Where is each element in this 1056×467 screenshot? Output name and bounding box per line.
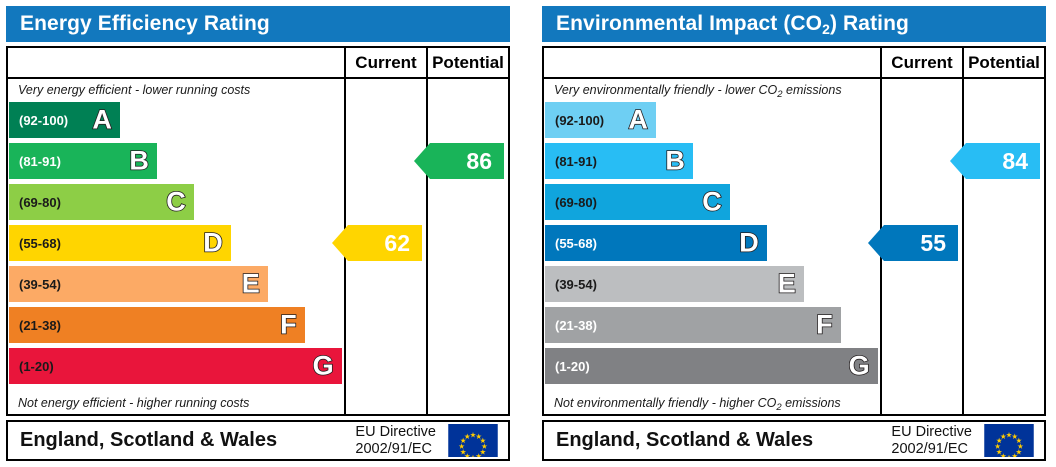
- current-column: 62: [344, 79, 426, 414]
- band-row-g: (1-20) G: [8, 348, 344, 384]
- band-bar-b: (81-91) B: [9, 143, 157, 179]
- band-bar-g: (1-20) G: [545, 348, 878, 384]
- band-range-d: (55-68): [545, 236, 597, 251]
- band-range-c: (69-80): [9, 195, 61, 210]
- potential-column: 84: [962, 79, 1044, 414]
- header-current: Current: [344, 48, 426, 77]
- band-row-e: (39-54) E: [544, 266, 880, 302]
- band-bar-f: (21-38) F: [9, 307, 305, 343]
- bands-column: Very energy efficient - lower running co…: [8, 79, 344, 414]
- energy-efficiency-title: Energy Efficiency Rating: [6, 6, 510, 42]
- current-rating-value: 55: [920, 230, 946, 257]
- band-row-a: (92-100) A: [8, 102, 344, 138]
- environmental-impact-title-text: Environmental Impact (CO: [556, 12, 822, 35]
- top-caption-post: emissions: [783, 83, 842, 97]
- band-bar-d: (55-68) D: [545, 225, 767, 261]
- bottom-caption: Not environmentally friendly - higher CO…: [544, 392, 880, 414]
- bottom-caption: Not energy efficient - higher running co…: [8, 392, 344, 414]
- band-range-a: (92-100): [9, 113, 68, 128]
- band-range-f: (21-38): [9, 318, 61, 333]
- band-bar-c: (69-80) C: [9, 184, 194, 220]
- environmental-impact-table: Current Potential Very environmentally f…: [542, 46, 1046, 416]
- footer-region-label: England, Scotland & Wales: [544, 422, 891, 459]
- potential-rating-arrow: 86: [414, 143, 504, 179]
- current-column: 55: [880, 79, 962, 414]
- band-bar-c: (69-80) C: [545, 184, 730, 220]
- environmental-impact-title: Environmental Impact (CO2) Rating: [542, 6, 1046, 42]
- header-potential: Potential: [962, 48, 1044, 77]
- band-row-b: (81-91) B: [544, 143, 880, 179]
- eu-flag-icon: [978, 424, 1040, 457]
- band-row-e: (39-54) E: [8, 266, 344, 302]
- band-bar-e: (39-54) E: [9, 266, 268, 302]
- band-row-a: (92-100) A: [544, 102, 880, 138]
- band-range-f: (21-38): [545, 318, 597, 333]
- environmental-impact-footer: England, Scotland & Wales EU Directive 2…: [542, 420, 1046, 461]
- environmental-impact-chart: Environmental Impact (CO2) Rating Curren…: [542, 6, 1046, 461]
- table-body-row: Very energy efficient - lower running co…: [8, 79, 508, 414]
- band-bar-d: (55-68) D: [9, 225, 231, 261]
- top-caption: Very environmentally friendly - lower CO…: [544, 79, 880, 101]
- band-range-e: (39-54): [9, 277, 61, 292]
- band-bar-a: (92-100) A: [545, 102, 656, 138]
- band-letter-d: D: [203, 230, 223, 257]
- energy-efficiency-title-text: Energy Efficiency Rating: [20, 12, 270, 35]
- bands-column: Very environmentally friendly - lower CO…: [544, 79, 880, 414]
- band-bar-g: (1-20) G: [9, 348, 342, 384]
- band-bar-a: (92-100) A: [9, 102, 120, 138]
- band-letter-g: G: [849, 353, 870, 380]
- band-bar-e: (39-54) E: [545, 266, 804, 302]
- footer-directive-line2: 2002/91/EC: [355, 441, 436, 457]
- header-spacer: [8, 48, 344, 77]
- top-caption-subscript: 2: [777, 89, 782, 100]
- band-letter-f: F: [280, 312, 297, 339]
- band-range-b: (81-91): [9, 154, 61, 169]
- header-current: Current: [880, 48, 962, 77]
- eu-flag-icon: [442, 424, 504, 457]
- band-range-d: (55-68): [9, 236, 61, 251]
- band-row-c: (69-80) C: [8, 184, 344, 220]
- footer-directive-line1: EU Directive: [891, 424, 972, 440]
- table-header-row: Current Potential: [544, 48, 1044, 79]
- current-rating-value: 62: [384, 230, 410, 257]
- bottom-caption-pre: Not environmentally friendly - higher CO: [554, 396, 776, 410]
- footer-directive-line1: EU Directive: [355, 424, 436, 440]
- potential-rating-value: 84: [1002, 148, 1028, 175]
- band-row-f: (21-38) F: [544, 307, 880, 343]
- energy-efficiency-chart: Energy Efficiency Rating Current Potenti…: [6, 6, 510, 461]
- environmental-impact-title-subscript: 2: [822, 21, 830, 37]
- band-letter-f: F: [816, 312, 833, 339]
- band-list: (92-100) A (81-91) B (69: [8, 101, 344, 392]
- potential-rating-arrow: 84: [950, 143, 1040, 179]
- header-spacer: [544, 48, 880, 77]
- band-letter-d: D: [739, 230, 759, 257]
- band-letter-c: C: [702, 189, 722, 216]
- bottom-caption-post: emissions: [782, 396, 841, 410]
- band-range-a: (92-100): [545, 113, 604, 128]
- top-caption: Very energy efficient - lower running co…: [8, 79, 344, 101]
- band-row-d: (55-68) D: [8, 225, 344, 261]
- environmental-impact-title-tail: ) Rating: [830, 12, 909, 35]
- band-range-g: (1-20): [9, 359, 54, 374]
- band-list: (92-100) A (81-91) B (69: [544, 101, 880, 392]
- table-body-row: Very environmentally friendly - lower CO…: [544, 79, 1044, 414]
- band-letter-b: B: [665, 148, 685, 175]
- footer-directive: EU Directive 2002/91/EC: [891, 422, 978, 459]
- band-row-g: (1-20) G: [544, 348, 880, 384]
- band-letter-a: A: [92, 107, 112, 134]
- current-rating-arrow: 55: [868, 225, 958, 261]
- footer-directive: EU Directive 2002/91/EC: [355, 422, 442, 459]
- band-row-c: (69-80) C: [544, 184, 880, 220]
- band-bar-b: (81-91) B: [545, 143, 693, 179]
- table-header-row: Current Potential: [8, 48, 508, 79]
- header-potential: Potential: [426, 48, 508, 77]
- bottom-caption-subscript: 2: [776, 402, 781, 413]
- band-range-g: (1-20): [545, 359, 590, 374]
- band-range-e: (39-54): [545, 277, 597, 292]
- band-range-b: (81-91): [545, 154, 597, 169]
- band-row-b: (81-91) B: [8, 143, 344, 179]
- band-bar-f: (21-38) F: [545, 307, 841, 343]
- band-letter-e: E: [242, 271, 260, 298]
- current-rating-arrow: 62: [332, 225, 422, 261]
- band-letter-e: E: [778, 271, 796, 298]
- band-row-f: (21-38) F: [8, 307, 344, 343]
- footer-directive-line2: 2002/91/EC: [891, 441, 972, 457]
- potential-column: 86: [426, 79, 508, 414]
- band-letter-b: B: [129, 148, 149, 175]
- potential-rating-value: 86: [466, 148, 492, 175]
- top-caption-pre: Very environmentally friendly - lower CO: [554, 83, 777, 97]
- epc-sheet: Energy Efficiency Rating Current Potenti…: [0, 0, 1056, 467]
- band-row-d: (55-68) D: [544, 225, 880, 261]
- energy-efficiency-table: Current Potential Very energy efficient …: [6, 46, 510, 416]
- energy-efficiency-footer: England, Scotland & Wales EU Directive 2…: [6, 420, 510, 461]
- band-letter-a: A: [628, 107, 648, 134]
- band-letter-g: G: [313, 353, 334, 380]
- band-range-c: (69-80): [545, 195, 597, 210]
- footer-region-label: England, Scotland & Wales: [8, 422, 355, 459]
- band-letter-c: C: [166, 189, 186, 216]
